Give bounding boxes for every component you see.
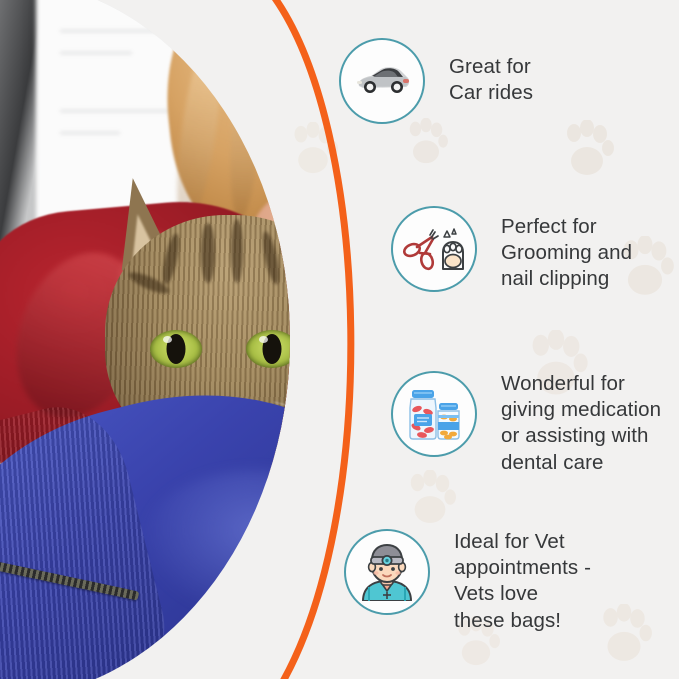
nail-clippers-paw-icon [402,223,466,275]
feature-label: Ideal for Vet appointments - Vets love t… [454,529,591,634]
feature-item-car-rides: Great for Car rides [339,38,533,124]
product-feature-infographic: Great for Car rides [0,0,679,679]
pill-bottles-icon [403,386,465,442]
feature-label: Great for Car rides [449,38,533,106]
feature-label: Wonderful for giving medication or assis… [501,371,661,476]
feature-icon-circle [391,206,477,292]
feature-icon-circle [344,529,430,615]
feature-label: Perfect for Grooming and nail clipping [501,206,632,293]
feature-icon-circle [339,38,425,124]
car-icon [351,64,413,98]
feature-list: Great for Car rides [0,0,679,679]
feature-item-grooming: Perfect for Grooming and nail clipping [391,206,632,293]
feature-icon-circle [391,371,477,457]
veterinarian-icon [357,543,417,601]
feature-item-vet: Ideal for Vet appointments - Vets love t… [344,529,591,634]
feature-item-medication: Wonderful for giving medication or assis… [391,371,661,476]
